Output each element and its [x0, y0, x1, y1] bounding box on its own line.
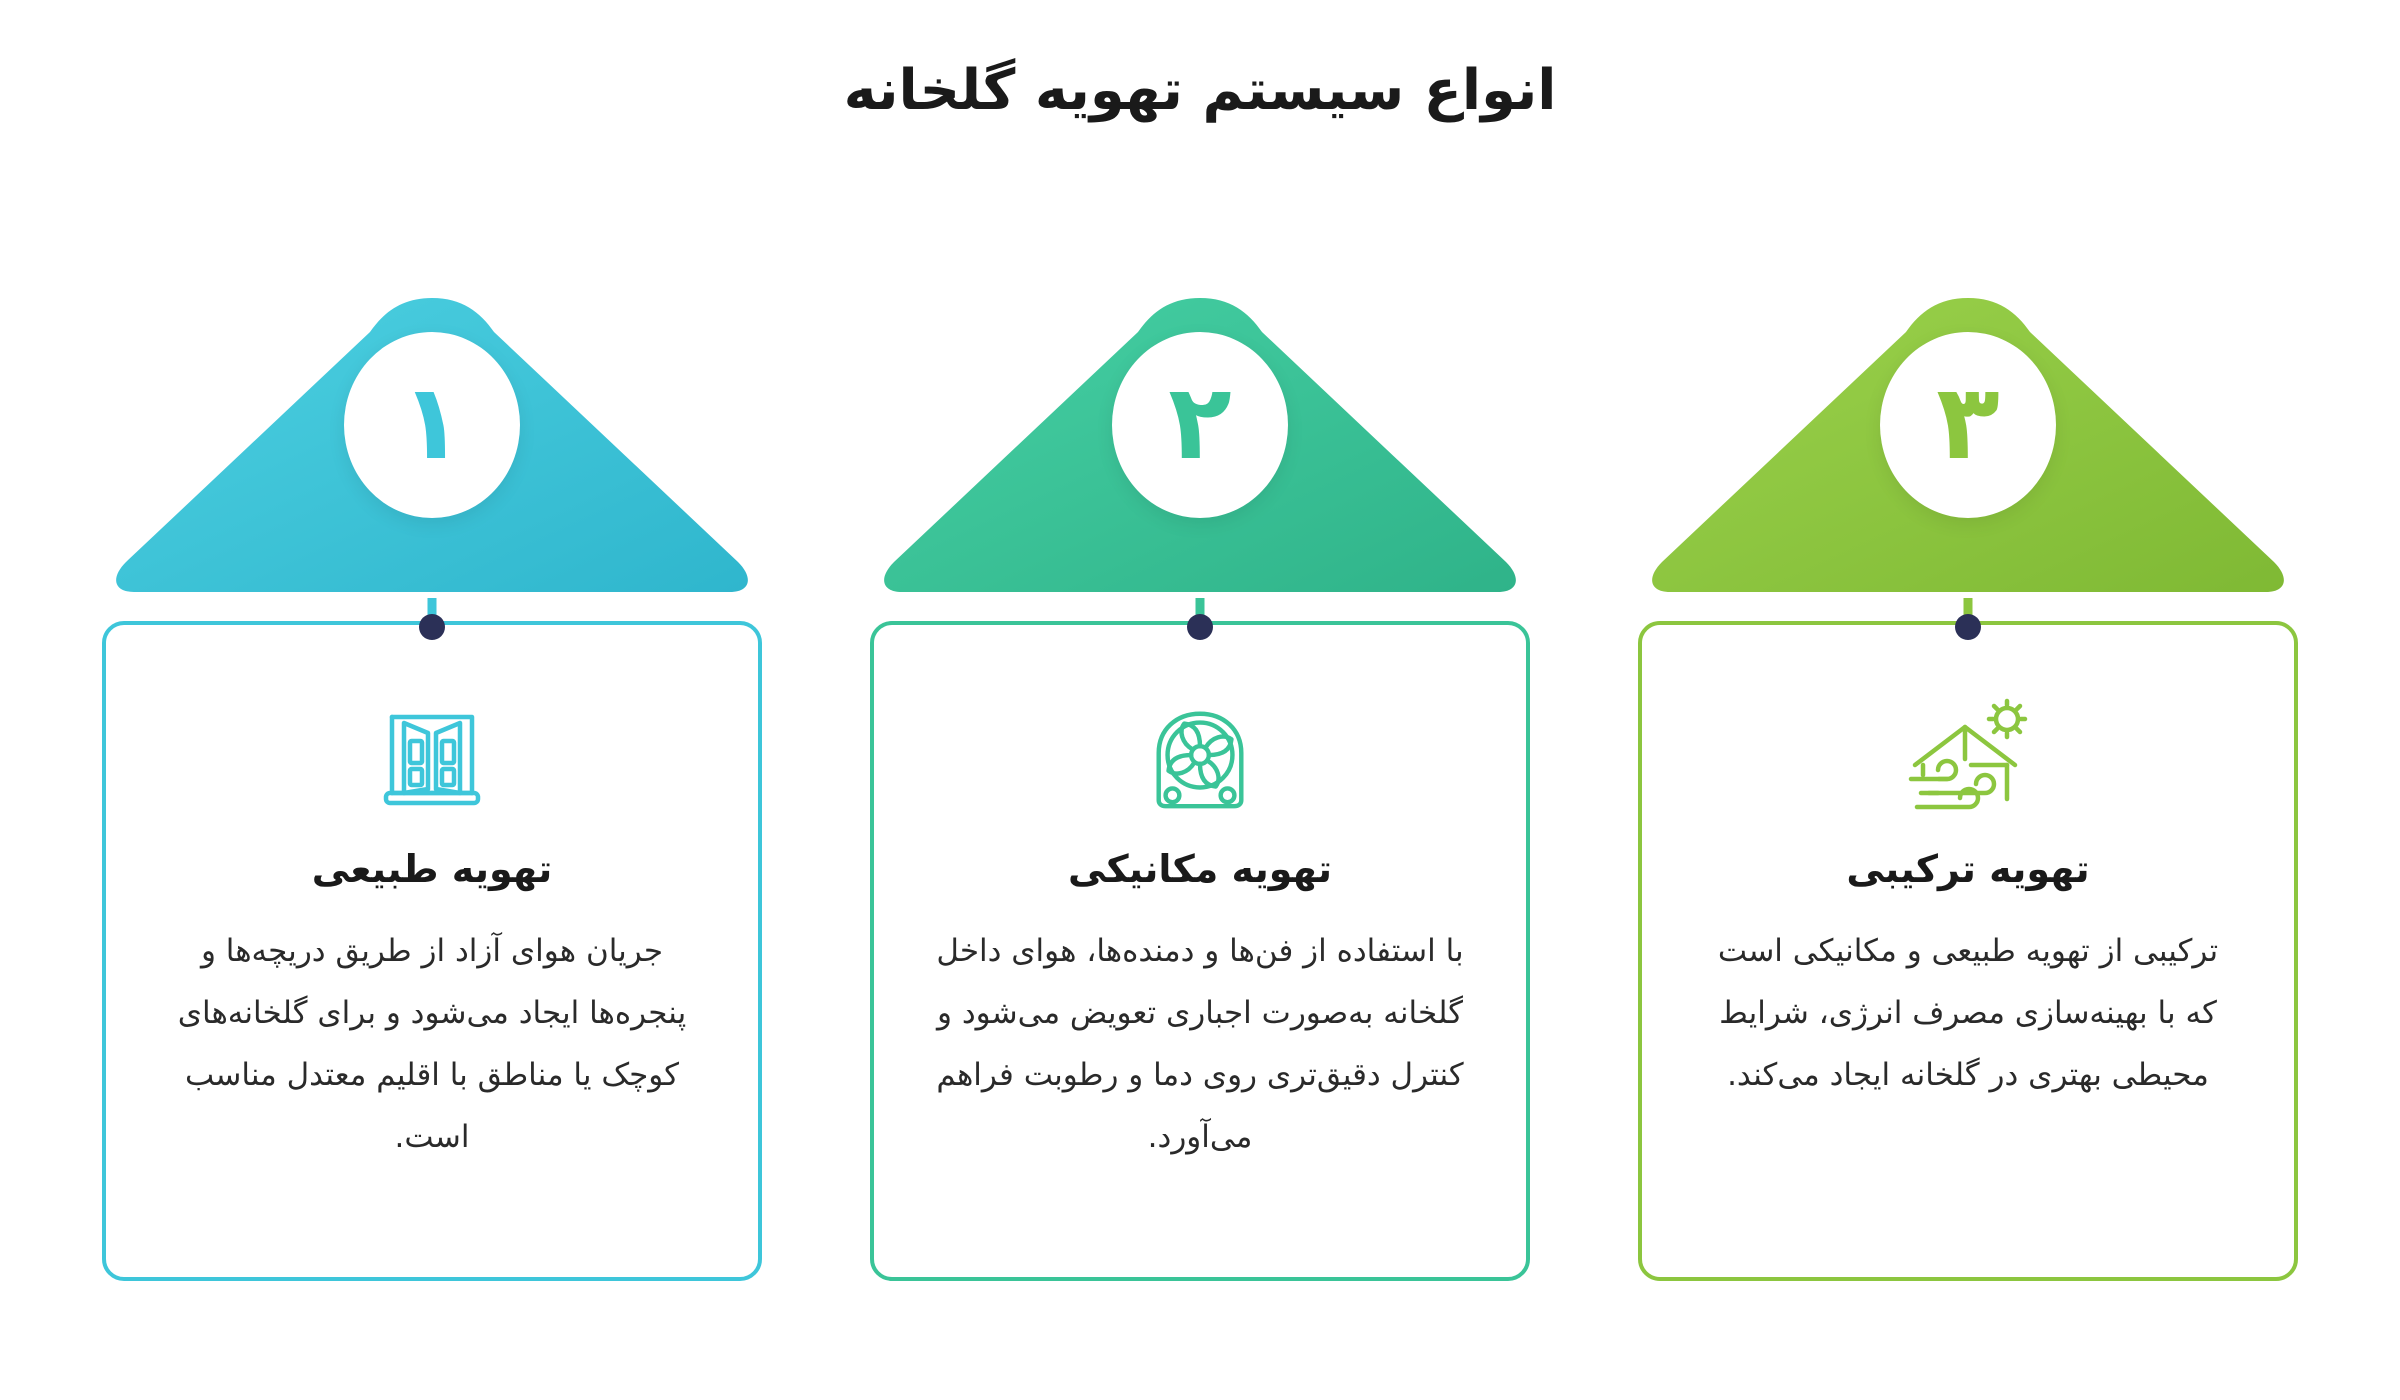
- card-1-number-badge: ۱: [344, 332, 520, 518]
- connector-dot: [1955, 614, 1981, 640]
- card-3-body: تهویه ترکیبی ترکیبی از تهویه طبیعی و مکا…: [1638, 621, 2298, 1281]
- card-1-roof: ۱: [102, 290, 762, 600]
- cards-row: ۱: [0, 290, 2400, 1281]
- card-3-number: ۳: [1936, 370, 1999, 474]
- card-2-number-badge: ۲: [1112, 332, 1288, 518]
- box-fan-icon: [1130, 687, 1270, 827]
- card-2-body: تهویه مکانیکی با استفاده از فن‌ها و دمند…: [870, 621, 1530, 1281]
- greenhouse-sun-wind-icon: [1898, 687, 2038, 827]
- card-2-number: ۲: [1168, 370, 1231, 474]
- card-3-text: ترکیبی از تهویه طبیعی و مکانیکی است که ب…: [1698, 920, 2238, 1106]
- card-2-title: تهویه مکانیکی: [1068, 845, 1332, 894]
- card-1-number: ۱: [400, 370, 463, 474]
- card-1-title: تهویه طبیعی: [312, 845, 552, 894]
- card-3[interactable]: ۳: [1638, 290, 2298, 1281]
- card-3-number-badge: ۳: [1880, 332, 2056, 518]
- connector-dot: [1187, 614, 1213, 640]
- card-1[interactable]: ۱: [102, 290, 762, 1281]
- card-1-body: تهویه طبیعی جریان هوای آزاد از طریق دریچ…: [102, 621, 762, 1281]
- open-window-icon: [362, 687, 502, 827]
- infographic-page: انواع سیستم تهویه گلخانه ۱: [0, 0, 2400, 1400]
- card-3-title: تهویه ترکیبی: [1846, 845, 2089, 894]
- card-2-text: با استفاده از فن‌ها و دمنده‌ها، هوای داخ…: [930, 920, 1470, 1168]
- card-2-roof: ۲: [870, 290, 1530, 600]
- card-1-text: جریان هوای آزاد از طریق دریچه‌ها و پنجره…: [162, 920, 702, 1168]
- card-3-roof: ۳: [1638, 290, 2298, 600]
- card-2[interactable]: ۲: [870, 290, 1530, 1281]
- connector-dot: [419, 614, 445, 640]
- page-title: انواع سیستم تهویه گلخانه: [0, 56, 2400, 126]
